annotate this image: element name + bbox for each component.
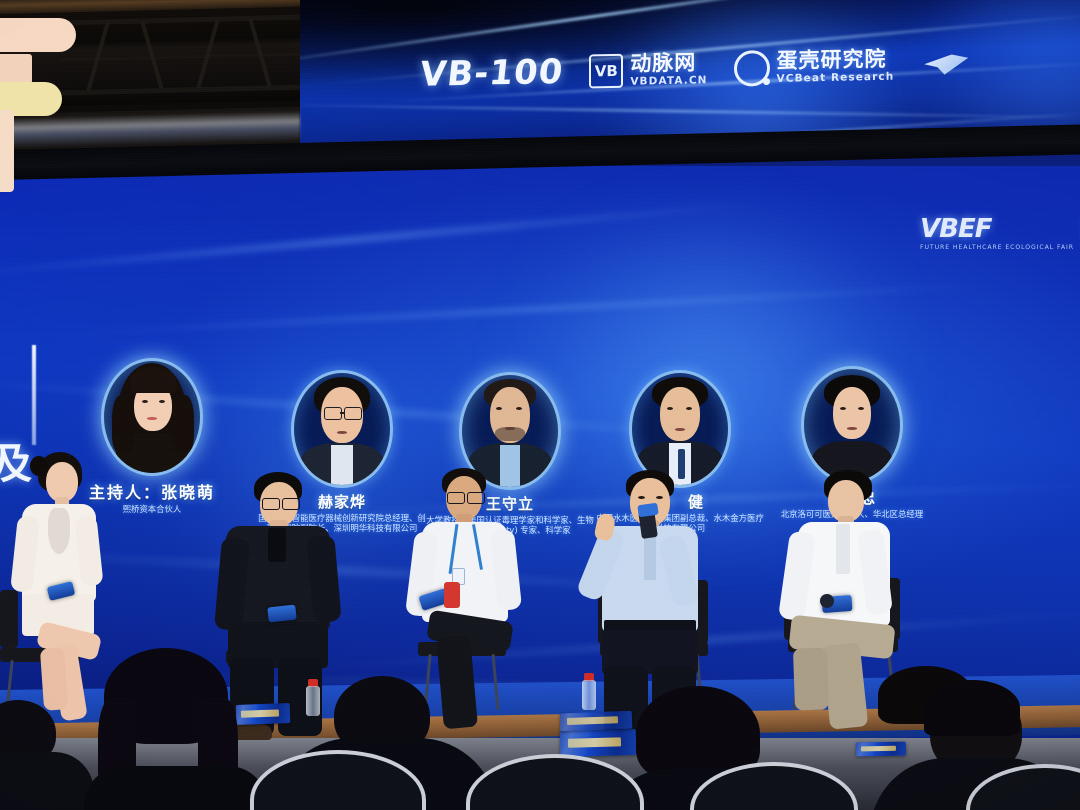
banquet-chair-1[interactable]	[250, 750, 420, 810]
vcbeat-en-label: VCBeat Research	[777, 70, 895, 84]
panelist-4-speaking	[578, 470, 748, 722]
vbdata-cn-label: 动脉网	[630, 53, 707, 76]
vb-badge-icon: VB	[589, 54, 623, 89]
banquet-chair-4[interactable]	[966, 764, 1080, 810]
vcbeat-logo: 蛋壳研究院 VCBeat Research	[734, 48, 895, 87]
microphone-2	[267, 605, 296, 623]
speaker-avatar-5	[801, 366, 903, 484]
vb100-logo: VB-100	[418, 52, 566, 95]
banquet-chair-3[interactable]	[690, 762, 850, 810]
foreground-pale-object	[0, 10, 82, 122]
banquet-chair-2[interactable]	[466, 754, 636, 810]
vbef-subtitle: FUTURE HEALTHCARE ECOLOGICAL FAIR	[920, 244, 1074, 251]
arrow-icon	[924, 54, 968, 75]
vcbeat-cn-label: 蛋壳研究院	[777, 49, 895, 73]
vcbeat-circle-icon	[734, 50, 770, 87]
vbdata-logo: VB 动脉网 VBDATA.CN	[589, 52, 707, 88]
vbef-mark: VBEF	[920, 216, 1074, 242]
vbdata-en-label: VBDATA.CN	[630, 74, 707, 87]
left-vertical-rule	[32, 345, 36, 445]
vbef-event-logo: VBEF FUTURE HEALTHCARE ECOLOGICAL FAIR 未…	[920, 216, 1080, 251]
conference-photo-scene: VB-100 VB 动脉网 VBDATA.CN 蛋壳研究院 VCBeat Res…	[0, 0, 1080, 810]
